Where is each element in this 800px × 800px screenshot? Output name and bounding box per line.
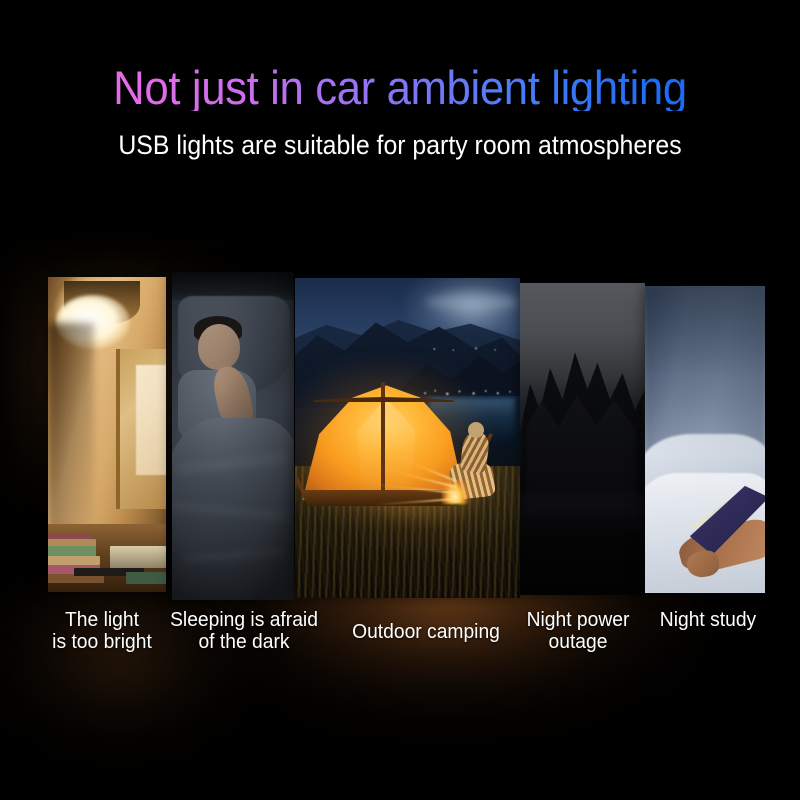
panel-night-power-outage [520, 283, 645, 595]
caption-night-power-outage: Night power outage [517, 609, 639, 653]
scene-person-in-bed [172, 272, 294, 600]
panel-sleeping-is-afraid-of-the-dark [172, 272, 294, 600]
book-shape [48, 556, 100, 565]
caption-sleeping-is-afraid-of-the-dark: Sleeping is afraid of the dark [163, 609, 325, 653]
scene-power-outage [520, 283, 645, 595]
distant-city-lights [421, 344, 516, 354]
scenario-photo-strip [0, 0, 800, 800]
picture-frame-shape [116, 349, 166, 509]
book-shape [48, 546, 96, 556]
caption-the-light-is-too-bright: The light is too bright [38, 609, 166, 653]
page-headline: Not just in car ambient lighting [28, 64, 772, 111]
scene-desk-lamp [48, 277, 166, 592]
panel-outdoor-camping [295, 278, 520, 598]
scene-vignette [520, 283, 645, 595]
camper-head-shape [468, 422, 484, 438]
promo-banner: Not just in car ambient lighting USB lig… [0, 0, 800, 800]
cloud-shape [425, 294, 520, 310]
panel-the-light-is-too-bright [48, 277, 166, 592]
page-subtitle: USB lights are suitable for party room a… [32, 131, 768, 161]
open-book-shape [110, 546, 166, 568]
wall-shadow-shape [48, 323, 94, 553]
scene-vignette [172, 272, 294, 600]
panel-night-study [645, 286, 765, 593]
caption-outdoor-camping: Outdoor camping [336, 621, 516, 643]
caption-night-study: Night study [649, 609, 767, 631]
scene-reading-in-bed [645, 286, 765, 593]
scene-camping-tent [295, 278, 520, 598]
scene-vignette [645, 286, 765, 593]
book-shape [126, 572, 166, 584]
